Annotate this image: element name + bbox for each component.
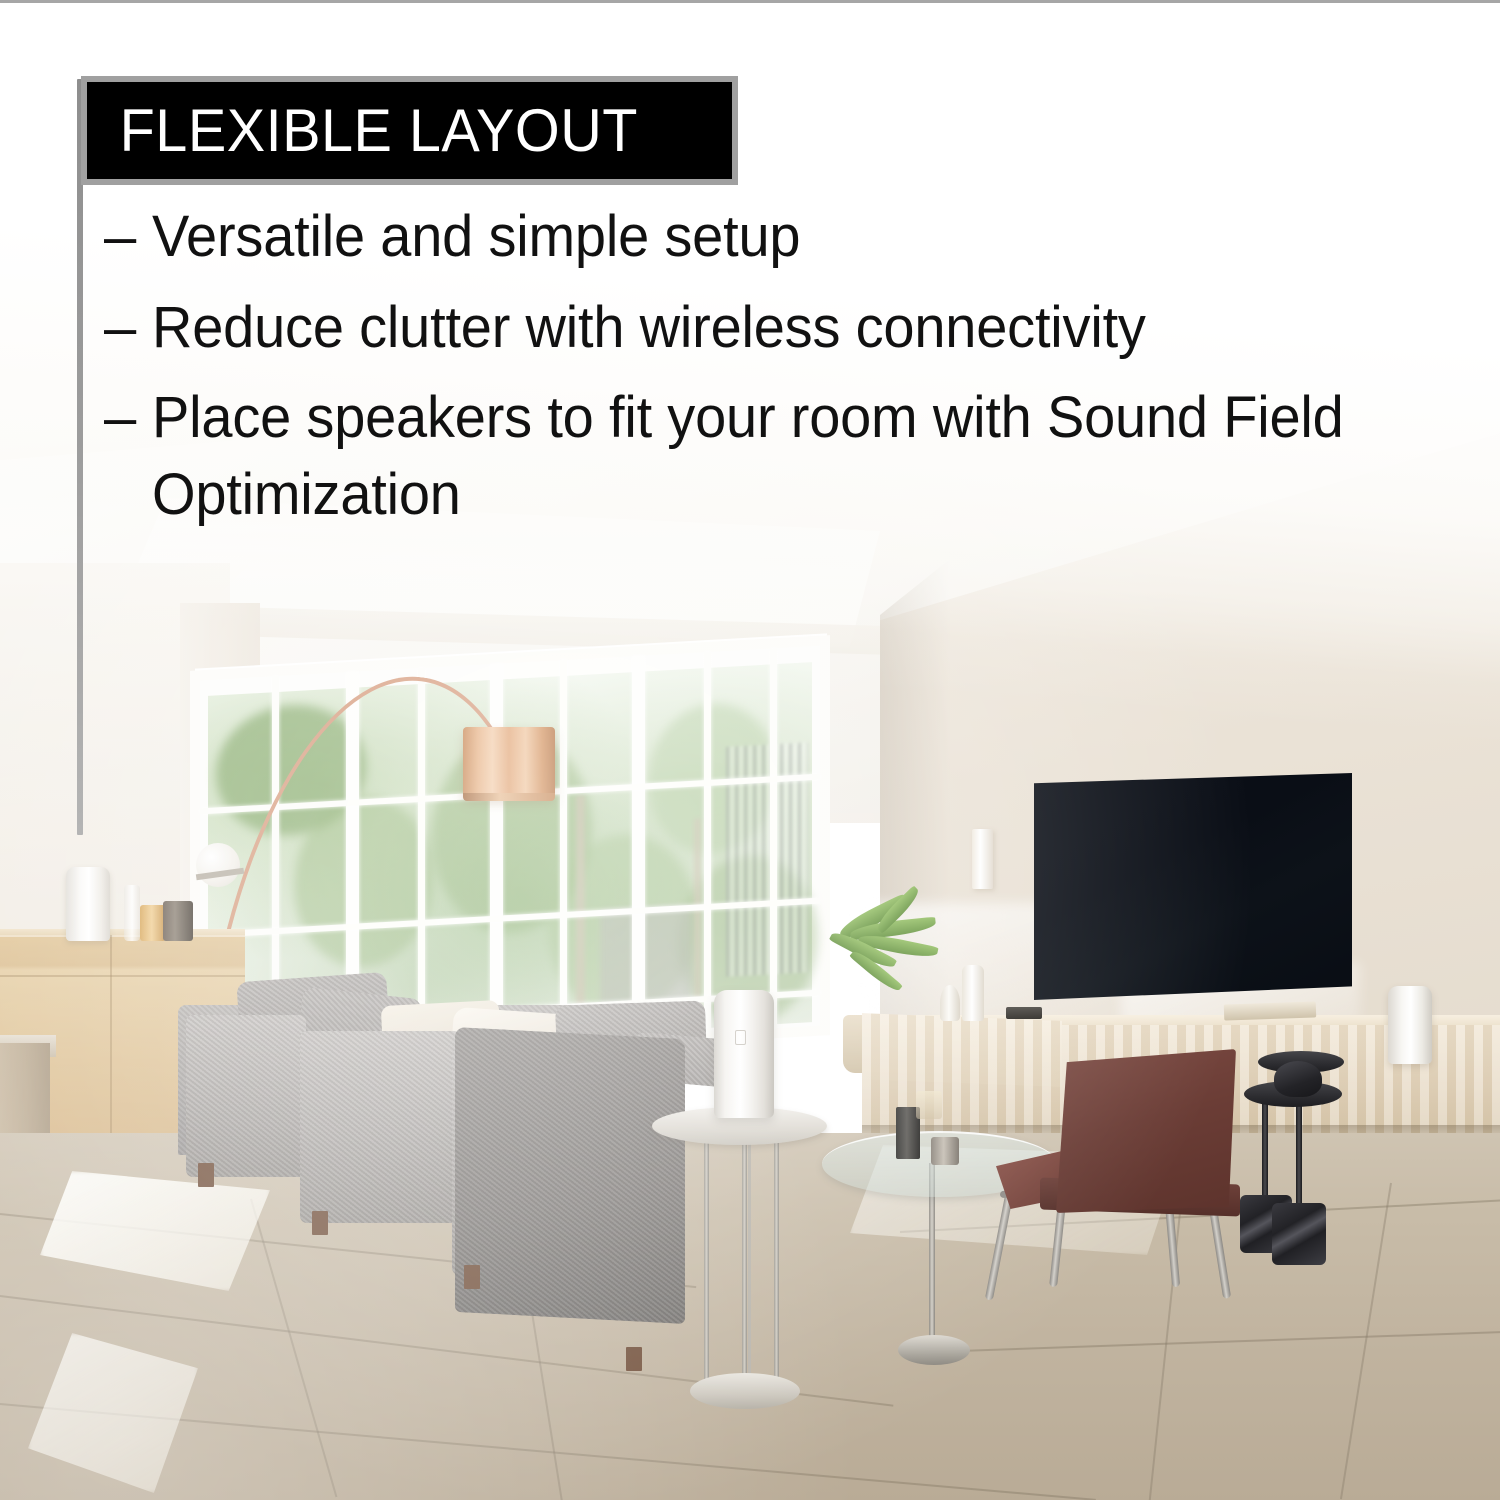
sofa-leg xyxy=(464,1265,480,1289)
sofa-leg xyxy=(626,1347,642,1371)
sofa-chaise-module xyxy=(455,1027,685,1324)
stacked-books xyxy=(1224,1001,1317,1020)
decorative-bowl xyxy=(1274,1061,1322,1097)
dark-candle-holder xyxy=(163,901,193,941)
right-rear-speaker xyxy=(1388,986,1432,1064)
sofa-module xyxy=(300,1031,460,1223)
glass-table-base xyxy=(898,1335,970,1365)
vertical-accent-rule xyxy=(77,79,83,835)
list-item: – Versatile and simple setup xyxy=(104,199,1424,276)
product-feature-card: FLEXIBLE LAYOUT – Versatile and simple s… xyxy=(0,0,1500,1500)
speaker-logo-icon xyxy=(735,1030,746,1045)
side-table-base xyxy=(690,1373,800,1409)
center-speaker xyxy=(714,990,774,1118)
marble-table-stem xyxy=(1262,1093,1268,1211)
remote-control xyxy=(1006,1007,1042,1019)
sofa-leg xyxy=(198,1163,214,1187)
tv-console-left-return xyxy=(862,1013,1062,1087)
side-table-leg xyxy=(704,1131,709,1383)
side-table-leg xyxy=(774,1131,779,1379)
sideboard-seam xyxy=(110,935,112,1153)
speaker-cable xyxy=(748,1129,751,1379)
bullet-dash-icon: – xyxy=(104,290,152,367)
marble-table-base xyxy=(1272,1203,1326,1265)
bullet-text: Reduce clutter with wireless connectivit… xyxy=(152,290,1379,367)
bullet-dash-icon: – xyxy=(104,380,152,457)
lounge-chair-back xyxy=(1056,1049,1236,1213)
grey-candle xyxy=(931,1137,959,1165)
bullet-text: Place speakers to fit your room with Sou… xyxy=(152,380,1379,533)
ceramic-vase-small xyxy=(940,985,960,1021)
page-title-label: FLEXIBLE LAYOUT xyxy=(87,101,638,161)
side-table-leg xyxy=(742,1131,747,1383)
feature-text-block: FLEXIBLE LAYOUT – Versatile and simple s… xyxy=(0,3,1500,903)
feature-bullet-list: – Versatile and simple setup – Reduce cl… xyxy=(104,199,1424,547)
sofa-leg xyxy=(312,1211,328,1235)
page-title: FLEXIBLE LAYOUT xyxy=(81,76,738,185)
glass-tumbler xyxy=(916,1091,942,1119)
list-item: – Reduce clutter with wireless connectiv… xyxy=(104,290,1424,367)
sideboard-seam xyxy=(0,975,245,977)
sofa-module xyxy=(186,1015,306,1177)
bullet-dash-icon: – xyxy=(104,199,152,276)
list-item: – Place speakers to fit your room with S… xyxy=(104,380,1424,533)
ceramic-vase xyxy=(962,965,984,1021)
bullet-text: Versatile and simple setup xyxy=(152,199,1379,276)
